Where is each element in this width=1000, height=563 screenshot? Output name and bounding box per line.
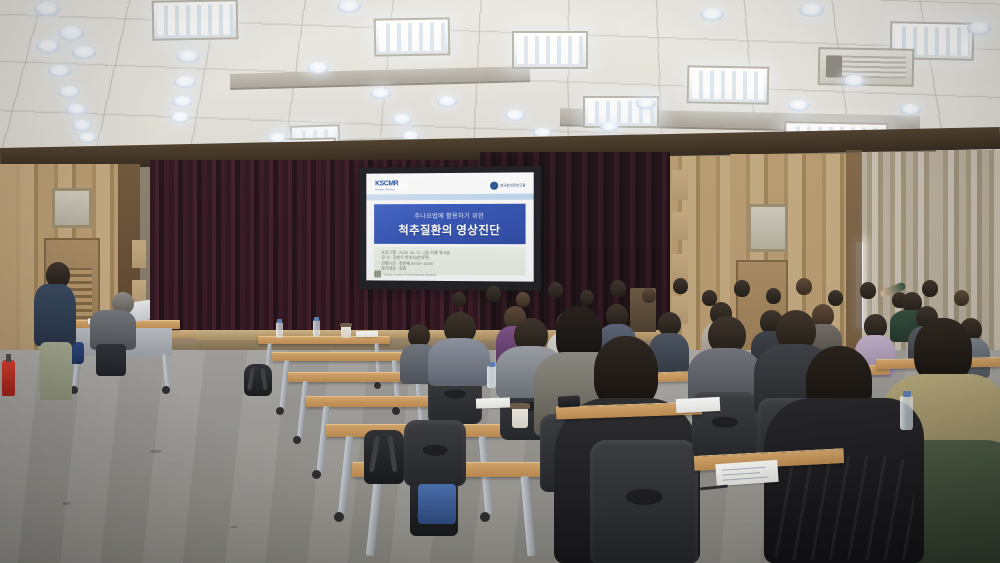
- qr-code-icon: [374, 271, 381, 278]
- downlight: [788, 100, 809, 111]
- coffee-cup: [512, 406, 528, 428]
- coffee-cup: [341, 325, 351, 338]
- downlight: [36, 40, 60, 53]
- slide-header-band: [366, 194, 533, 201]
- wall-accent-block: [672, 170, 688, 200]
- person-head: [914, 318, 972, 382]
- downlight: [170, 112, 190, 123]
- phone[interactable]: [558, 395, 581, 407]
- downlight: [78, 133, 97, 143]
- downlight: [34, 2, 60, 16]
- downlight: [58, 26, 84, 41]
- downlight: [48, 65, 71, 77]
- downlight: [636, 98, 656, 109]
- panel-light: [687, 65, 770, 104]
- chair[interactable]: [404, 420, 466, 486]
- downlight: [72, 120, 92, 131]
- downlight: [307, 62, 329, 74]
- lecture-hall-photo: KSCMR Korean Society 한국한의학연구원 추나요법에 활용하기…: [0, 0, 1000, 563]
- slide-title-block: 추나요법에 활용하기 위한 척추질환의 영상진단: [374, 204, 525, 244]
- wall-accent-block: [132, 240, 146, 268]
- stage-step: [196, 330, 258, 340]
- water-bottle: [313, 320, 320, 337]
- water-bottle: [276, 322, 283, 338]
- projection-screen: KSCMR Korean Society 한국한의학연구원 추나요법에 활용하기…: [360, 166, 541, 291]
- person-seated: [430, 312, 492, 392]
- wall-accent-block: [672, 212, 688, 240]
- chair-base: [418, 484, 456, 524]
- fire-extinguisher: [0, 352, 16, 396]
- presentation-slide: KSCMR Korean Society 한국한의학연구원 추나요법에 활용하기…: [366, 172, 533, 281]
- downlight: [600, 122, 619, 132]
- handout-paper: [676, 397, 721, 413]
- downlight: [337, 0, 361, 13]
- wall-access-panel: [52, 188, 92, 228]
- person-torso: [428, 338, 490, 386]
- slide-logo-left-sub: Korean Society: [375, 187, 395, 191]
- person-torso: [34, 284, 76, 346]
- downlight: [843, 75, 865, 87]
- downlight: [172, 96, 193, 107]
- chair[interactable]: [590, 440, 698, 563]
- slide-logo-left: KSCMR Korean Society: [375, 179, 408, 191]
- downlight: [66, 104, 87, 115]
- slide-title: 척추질환의 영상진단: [398, 221, 500, 237]
- slide-footer-text: Korean Society of Chuna Manual Medicine: [384, 272, 436, 276]
- wall-access-panel: [748, 204, 788, 252]
- panel-light: [152, 0, 239, 41]
- person-seated-staff: [88, 292, 140, 364]
- downlight: [900, 104, 921, 115]
- person-legs: [96, 344, 126, 376]
- downlight: [58, 86, 80, 98]
- downlight: [72, 46, 96, 59]
- person-seated-puffer-jacket: [770, 398, 920, 563]
- slide-logo-right-emblem-icon: [490, 181, 498, 189]
- backpack: [244, 364, 272, 396]
- downlight: [967, 22, 991, 35]
- downlight: [392, 114, 412, 125]
- handout-paper: [715, 460, 778, 486]
- slide-logo-right: 한국한의학연구원: [490, 179, 525, 190]
- downlight: [700, 8, 724, 21]
- backpack: [364, 430, 404, 484]
- handout-paper: [356, 331, 378, 337]
- downlight: [505, 110, 525, 121]
- downlight: [370, 88, 391, 99]
- slide-kicker: 추나요법에 활용하기 위한: [414, 210, 484, 219]
- water-bottle: [900, 396, 913, 430]
- downlight: [799, 3, 824, 17]
- slide-logo-right-text: 한국한의학연구원: [500, 183, 525, 187]
- water-bottle: [487, 366, 496, 388]
- puffer-quilting: [774, 456, 914, 560]
- downlight: [437, 96, 457, 107]
- panel-light: [512, 31, 588, 69]
- person-standing-staff: [30, 262, 78, 400]
- panel-light: [374, 17, 451, 56]
- person-legs: [40, 342, 72, 400]
- downlight: [174, 76, 196, 88]
- downlight: [176, 50, 200, 63]
- ceiling-ac-unit: [818, 47, 915, 87]
- handout-paper: [476, 397, 510, 408]
- wall-panel-left-strip: [0, 164, 34, 370]
